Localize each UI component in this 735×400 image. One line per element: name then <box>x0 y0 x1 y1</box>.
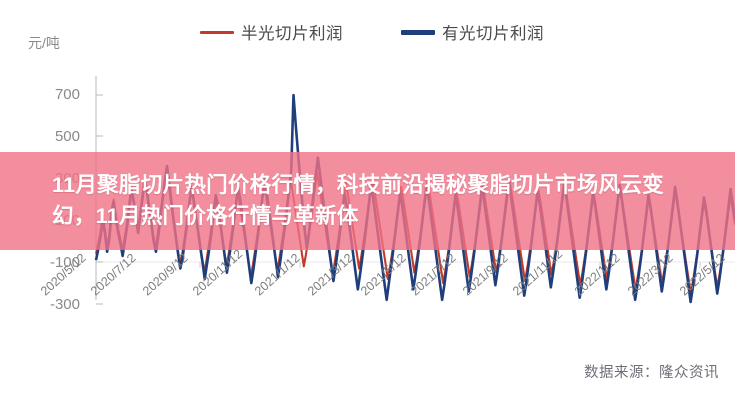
y-tick-neg300: -300 <box>50 296 80 313</box>
y-tick-500: 500 <box>55 128 80 145</box>
chart-screenshot: 元/吨 半光切片利润 有光切片利润 <box>0 0 735 400</box>
headline-banner-overlay: 11月聚脂切片热门价格行情，科技前沿揭秘聚脂切片市场风云变幻，11月热门价格行情… <box>0 152 735 250</box>
y-tick-700: 700 <box>55 86 80 103</box>
data-source-label: 数据来源：隆众资讯 <box>584 361 719 382</box>
headline-text: 11月聚脂切片热门价格行情，科技前沿揭秘聚脂切片市场风云变幻，11月热门价格行情… <box>52 170 683 231</box>
